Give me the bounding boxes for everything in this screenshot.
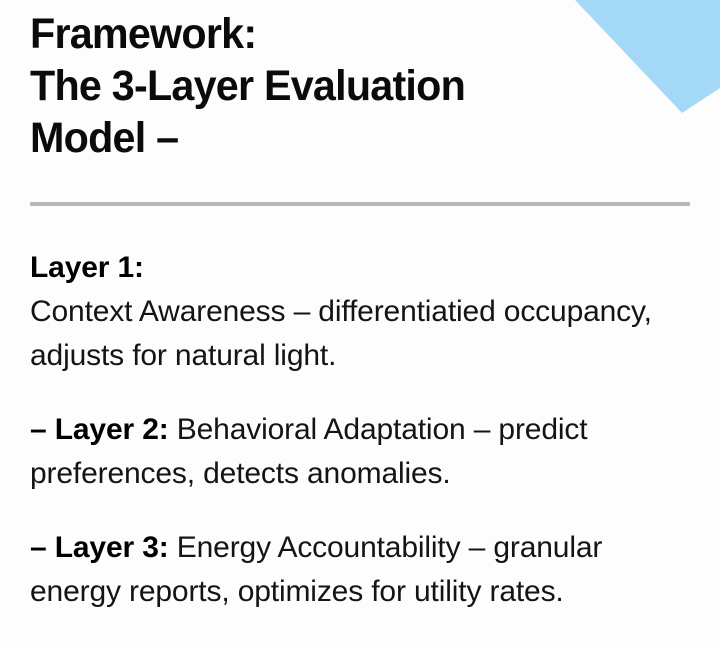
layer-1-label: Layer 1: bbox=[30, 246, 690, 290]
layer-3-label: – Layer 3: bbox=[30, 531, 169, 564]
title-line-3: Model – bbox=[30, 112, 644, 164]
page-title: Framework: The 3-Layer Evaluation Model … bbox=[30, 8, 670, 164]
layer-2-label: – Layer 2: bbox=[30, 413, 169, 446]
title-divider bbox=[30, 202, 690, 206]
title-line-1: Framework: bbox=[30, 8, 644, 60]
layer-item-2: – Layer 2: Behavioral Adaptation – predi… bbox=[30, 408, 690, 496]
layer-item-1: Layer 1:Context Awareness – differentiat… bbox=[30, 246, 690, 378]
slide-canvas: Framework: The 3-Layer Evaluation Model … bbox=[0, 0, 720, 648]
layer-1-description: Context Awareness – differentiatied occu… bbox=[30, 295, 652, 372]
layer-list: Layer 1:Context Awareness – differentiat… bbox=[30, 216, 690, 614]
title-line-2: The 3-Layer Evaluation bbox=[30, 60, 644, 112]
layer-item-3: – Layer 3: Energy Accountability – granu… bbox=[30, 526, 690, 614]
